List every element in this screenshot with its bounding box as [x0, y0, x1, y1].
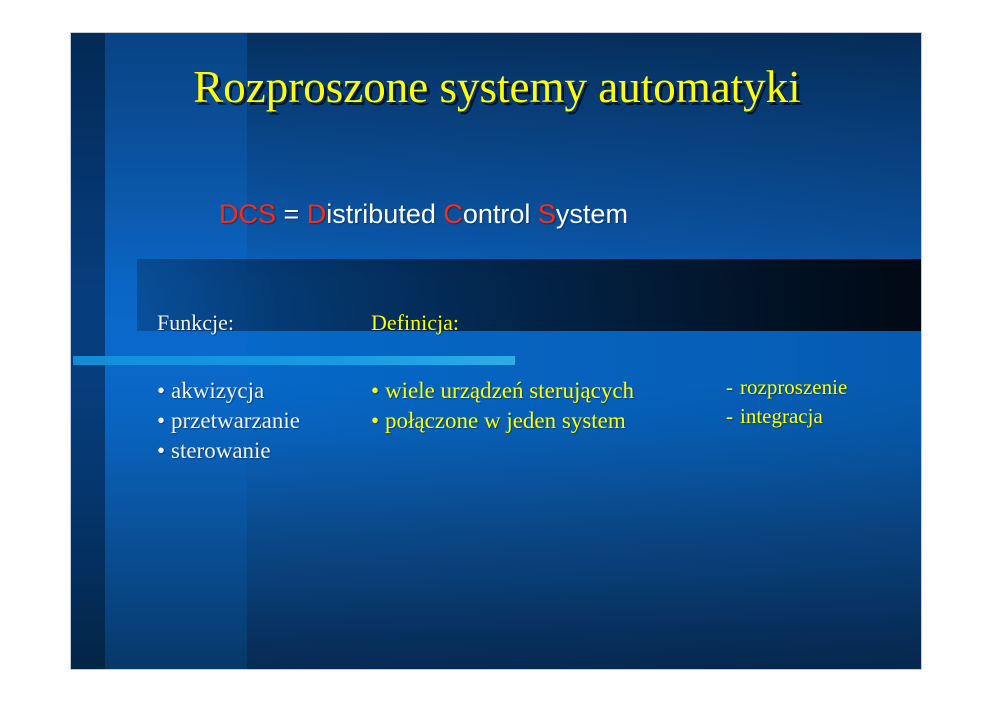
slide-stage: Rozproszone systemy automatyki DCS = Dis…: [0, 0, 992, 702]
acronym-dcs: DCS: [219, 199, 276, 229]
dash-marker: -: [726, 402, 740, 431]
dash-marker: -: [726, 373, 740, 402]
column-heading-funkcje: Funkcje:: [157, 310, 234, 336]
acronym-istributed: istributed: [326, 199, 443, 229]
acronym-ontrol: ontrol: [463, 199, 538, 229]
acronym-c: C: [443, 199, 463, 229]
bullet-marker: •: [157, 406, 171, 436]
list-item-label: rozproszenie: [740, 375, 847, 399]
acronym-s: S: [538, 199, 556, 229]
list-item: •wiele urządzeń sterujących: [371, 376, 634, 406]
list-item: -rozproszenie: [726, 373, 847, 402]
column-heading-definicja: Definicja:: [371, 310, 459, 336]
background-light-column: [105, 33, 247, 669]
acronym-equals: =: [276, 199, 307, 229]
list-item-label: integracja: [740, 404, 823, 428]
list-item: •połączone w jeden system: [371, 406, 634, 436]
bullet-list-cechy: -rozproszenie -integracja: [726, 373, 847, 431]
presentation-slide: Rozproszone systemy automatyki DCS = Dis…: [70, 32, 922, 670]
bullet-marker: •: [371, 406, 385, 436]
bullet-marker: •: [371, 376, 385, 406]
accent-bar: [73, 356, 515, 365]
bullet-marker: •: [157, 436, 171, 466]
list-item: •akwizycja: [157, 376, 300, 406]
bullet-marker: •: [157, 376, 171, 406]
list-item-label: sterowanie: [171, 438, 271, 463]
acronym-d: D: [307, 199, 327, 229]
slide-title: Rozproszone systemy automatyki: [71, 63, 922, 113]
bullet-list-definicja: •wiele urządzeń sterujących •połączone w…: [371, 376, 634, 436]
list-item-label: połączone w jeden system: [385, 408, 626, 433]
bullet-list-funkcje: •akwizycja •przetwarzanie •sterowanie: [157, 376, 300, 466]
list-item-label: przetwarzanie: [171, 408, 300, 433]
list-item: •przetwarzanie: [157, 406, 300, 436]
list-item-label: akwizycja: [171, 378, 264, 403]
list-item-label: wiele urządzeń sterujących: [385, 378, 634, 403]
background-left-strip: [71, 33, 105, 669]
background-dark-band: [137, 259, 921, 331]
acronym-line: DCS = Distributed Control System: [219, 198, 628, 230]
list-item: •sterowanie: [157, 436, 300, 466]
acronym-ystem: ystem: [556, 199, 628, 229]
list-item: -integracja: [726, 402, 847, 431]
background-right-shade: [247, 33, 921, 669]
